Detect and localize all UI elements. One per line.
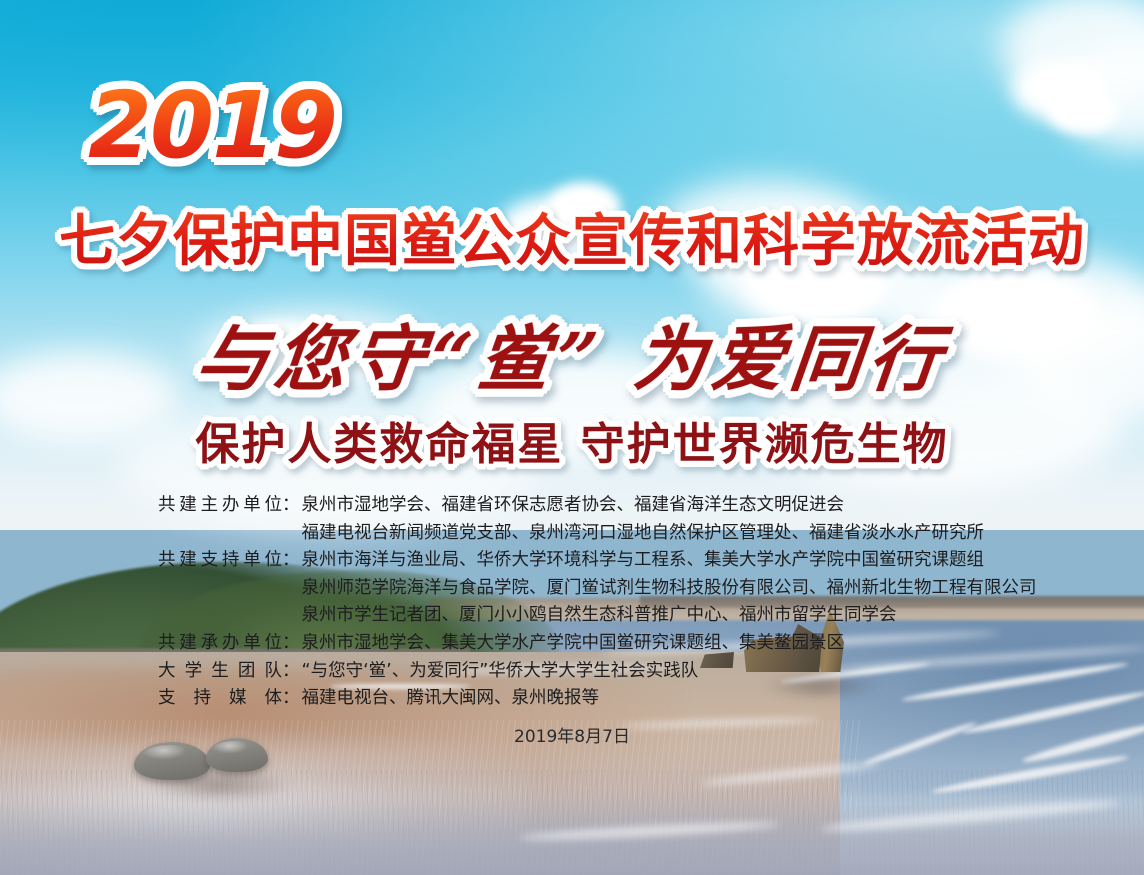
poster-slogan-calligraphy: 与您守“鲎” 为爱同行 [0,300,1144,405]
credit-colon: ： [282,630,300,658]
credit-label: 共建主办单位 [158,492,282,520]
credit-line: 共建支持单位 ： 泉州市海洋与渔业局、华侨大学环境科学与工程系、集美大学水产学院… [158,547,1038,575]
credit-text: 泉州市湿地学会、集美大学水产学院中国鲎研究课题组、集美鳌园景区 [302,630,845,658]
year-badge: 2019 [88,72,336,179]
credit-text: 福建电视台、腾讯大闽网、泉州晚报等 [302,685,600,713]
credit-colon: ： [282,685,300,713]
credit-line: ： 泉州师范学院海洋与食品学院、厦门鲎试剂生物科技股份有限公司、福州新北生物工程… [158,575,1038,603]
credit-text: 泉州市湿地学会、福建省环保志愿者协会、福建省海洋生态文明促进会 [302,492,845,520]
credit-text: 泉州市学生记者团、厦门小小鸥自然生态科普推广中心、福州市留学生同学会 [302,602,897,630]
credit-text: 泉州师范学院海洋与食品学院、厦门鲎试剂生物科技股份有限公司、福州新北生物工程有限… [302,575,1037,603]
poster-headline: 七夕保护中国鲎公众宣传和科学放流活动 [0,196,1144,277]
credit-line: 共建主办单位 ： 泉州市湿地学会、福建省环保志愿者协会、福建省海洋生态文明促进会 [158,492,1038,520]
credit-line: ： 福建电视台新闻频道党支部、泉州湾河口湿地自然保护区管理处、福建省淡水水产研究… [158,520,1038,548]
event-date: 2019年8月7日 [0,722,1144,747]
credit-text: 福建电视台新闻频道党支部、泉州湾河口湿地自然保护区管理处、福建省淡水水产研究所 [302,520,985,548]
credit-line: 大学生团队 ： “与您守‘鲎’、为爱同行”华侨大学大学生社会实践队 [158,658,1038,686]
poster-subheadline: 保护人类救命福星 守护世界濒危生物 [0,408,1144,472]
credit-text: “与您守‘鲎’、为爱同行”华侨大学大学生社会实践队 [302,658,699,686]
credit-text: 泉州市海洋与渔业局、华侨大学环境科学与工程系、集美大学水产学院中国鲎研究课题组 [302,547,985,575]
horseshoe-crab-highlight [142,745,196,767]
credit-label: 共建支持单位 [158,547,282,575]
credit-label: 支持媒体 [158,685,282,713]
credit-colon: ： [282,547,300,575]
credit-line: 共建承办单位 ： 泉州市湿地学会、集美大学水产学院中国鲎研究课题组、集美鳌园景区 [158,630,1038,658]
credit-label: 共建承办单位 [158,630,282,658]
credits-block: 共建主办单位 ： 泉州市湿地学会、福建省环保志愿者协会、福建省海洋生态文明促进会… [158,492,1038,713]
cloud-shape [1048,90,1118,134]
poster: 2019 七夕保护中国鲎公众宣传和科学放流活动 与您守“鲎” 为爱同行 保护人类… [0,0,1144,875]
credit-line: ： 泉州市学生记者团、厦门小小鸥自然生态科普推广中心、福州市留学生同学会 [158,602,1038,630]
credit-colon: ： [282,492,300,520]
credit-colon: ： [282,658,300,686]
credit-label: 大学生团队 [158,658,282,686]
credit-line: 支持媒体 ： 福建电视台、腾讯大闽网、泉州晚报等 [158,685,1038,713]
